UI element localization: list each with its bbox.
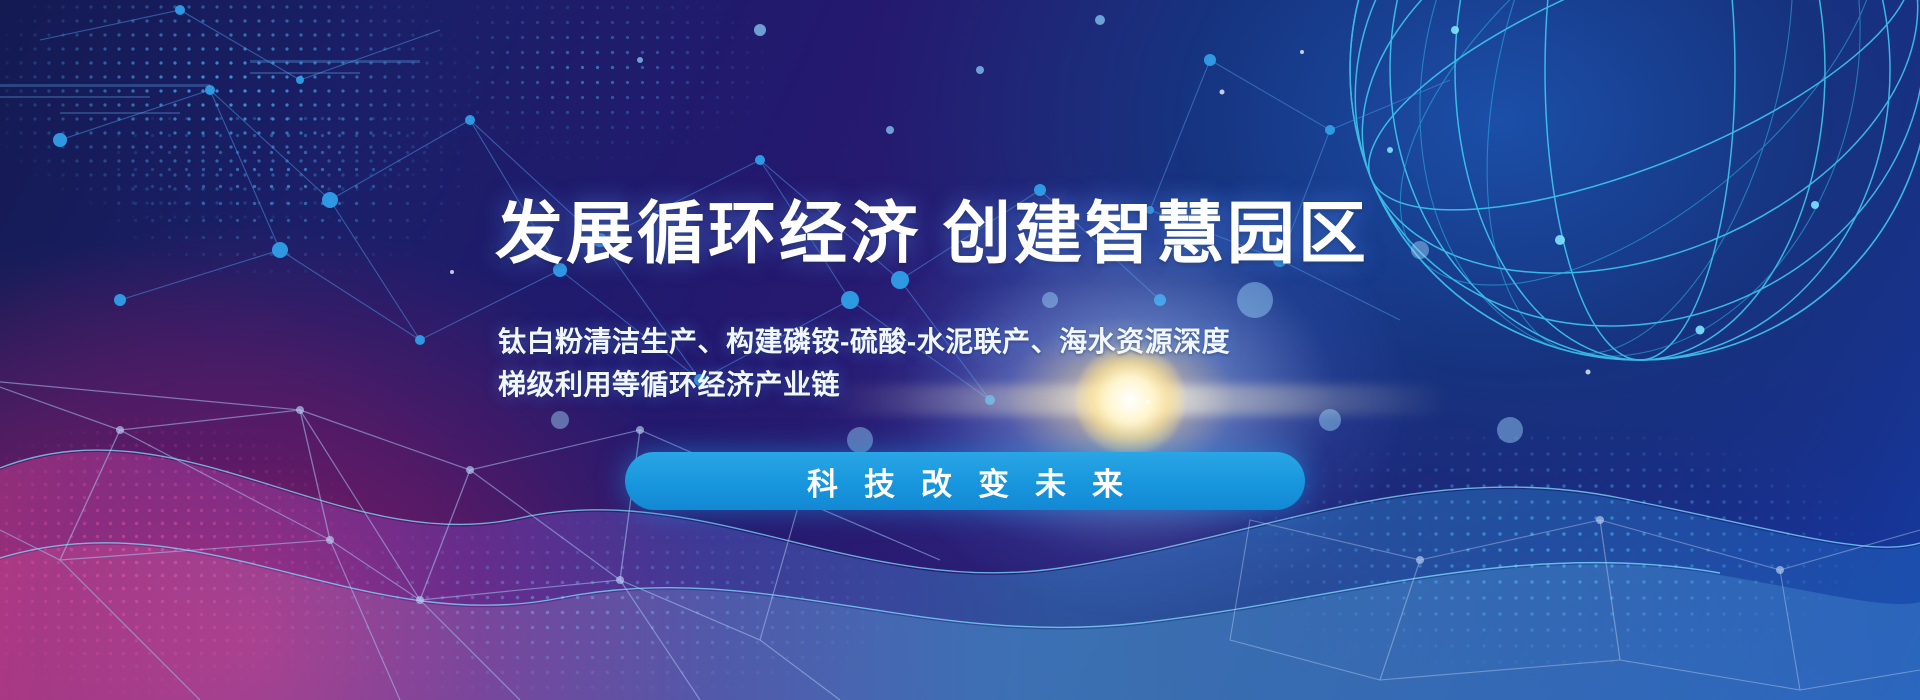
hero-subtitle-line-1: 钛白粉清洁生产、构建磷铵-硫酸-水泥联产、海水资源深度 xyxy=(498,320,1438,363)
cta-button[interactable]: 科技改变未来 xyxy=(625,452,1305,510)
hero-content: 发展循环经济 创建智慧园区 钛白粉清洁生产、构建磷铵-硫酸-水泥联产、海水资源深… xyxy=(0,0,1920,700)
cta-button-label: 科技改变未来 xyxy=(781,459,1149,504)
hero-banner: 发展循环经济 创建智慧园区 钛白粉清洁生产、构建磷铵-硫酸-水泥联产、海水资源深… xyxy=(0,0,1920,700)
hero-subtitle-line-2: 梯级利用等循环经济产业链 xyxy=(498,363,1438,406)
hero-subtitle: 钛白粉清洁生产、构建磷铵-硫酸-水泥联产、海水资源深度 梯级利用等循环经济产业链 xyxy=(498,320,1438,407)
page-title: 发展循环经济 创建智慧园区 xyxy=(495,200,1495,268)
